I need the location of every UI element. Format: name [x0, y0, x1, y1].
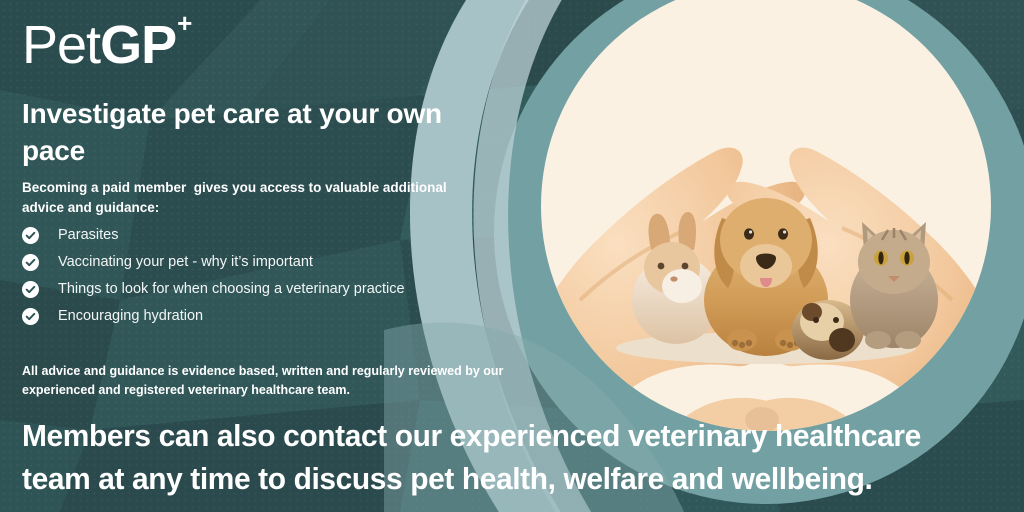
disclaimer-text: All advice and guidance is evidence base… [22, 362, 522, 401]
check-circle-icon [22, 227, 39, 244]
content-layer: PetGP+ Investigate pet care at your own … [0, 0, 1024, 512]
benefit-label: Encouraging hydration [58, 309, 203, 324]
benefits-list: Parasites Vaccinating your pet - why it’… [22, 222, 405, 330]
subheading: Becoming a paid member gives you access … [22, 178, 492, 217]
list-item: Encouraging hydration [22, 303, 405, 330]
check-circle-icon [22, 308, 39, 325]
list-item: Parasites [22, 222, 405, 249]
brand-logo[interactable]: PetGP+ [22, 18, 190, 72]
list-item: Things to look for when choosing a veter… [22, 276, 405, 303]
logo-plus-icon: + [177, 8, 191, 38]
logo-text-bold: GP [100, 15, 176, 75]
logo-text-light: Pet [22, 15, 100, 75]
check-circle-icon [22, 281, 39, 298]
closing-statement: Members can also contact our experienced… [22, 415, 973, 501]
list-item: Vaccinating your pet - why it’s importan… [22, 249, 405, 276]
benefit-label: Vaccinating your pet - why it’s importan… [58, 255, 313, 270]
promo-banner: PetGP+ Investigate pet care at your own … [0, 0, 1024, 512]
benefit-label: Things to look for when choosing a veter… [58, 282, 405, 297]
benefit-label: Parasites [58, 228, 118, 243]
page-title: Investigate pet care at your own pace [22, 96, 442, 170]
check-circle-icon [22, 254, 39, 271]
